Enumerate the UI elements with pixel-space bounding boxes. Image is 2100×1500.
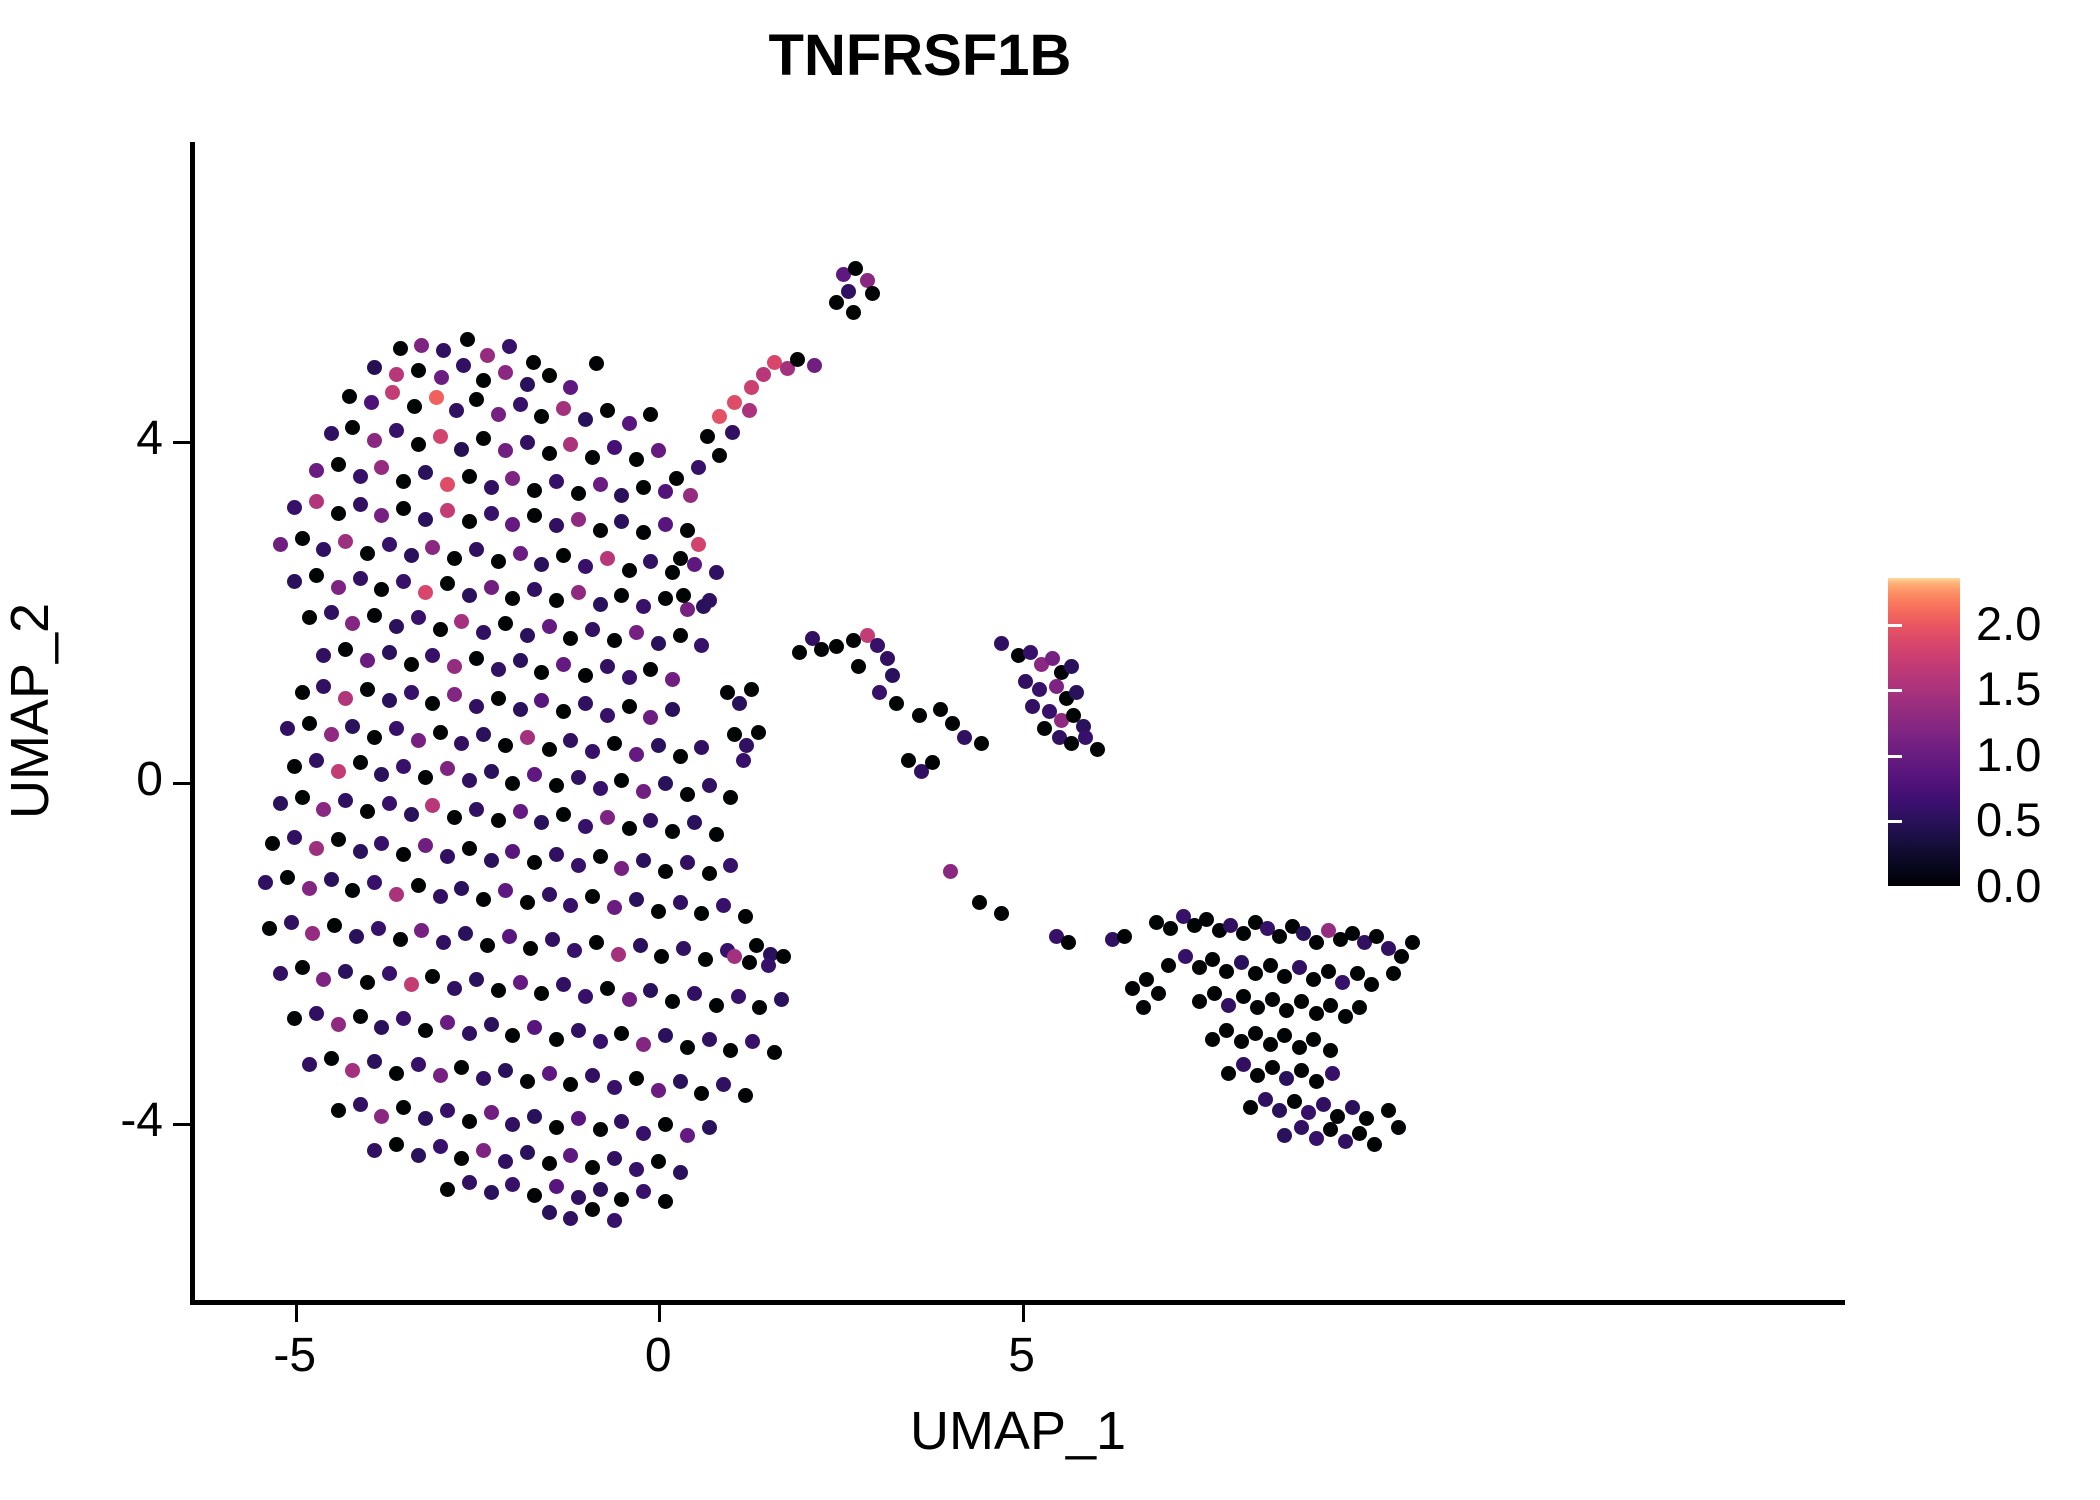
scatter-point (636, 1126, 651, 1141)
scatter-point (643, 407, 658, 422)
scatter-point (901, 753, 916, 768)
scatter-point (440, 576, 455, 591)
scatter-point (534, 557, 549, 572)
scatter-point (462, 841, 477, 856)
scatter-point (700, 429, 715, 444)
scatter-point (563, 1211, 578, 1226)
scatter-point (752, 1000, 767, 1015)
scatter-point (738, 909, 753, 924)
scatter-point (396, 1100, 411, 1115)
scatter-point (404, 807, 419, 822)
scatter-point (846, 305, 861, 320)
x-tick-label: 5 (952, 1328, 1092, 1383)
scatter-point (1234, 1034, 1249, 1049)
scatter-point (691, 537, 706, 552)
scatter-point (1323, 998, 1338, 1013)
scatter-point (643, 662, 658, 677)
scatter-point (476, 727, 491, 742)
scatter-point (614, 588, 629, 603)
scatter-point (607, 1080, 622, 1095)
scatter-point (476, 892, 491, 907)
scatter-point (607, 1151, 622, 1166)
scatter-point (527, 582, 542, 597)
scatter-point (633, 938, 648, 953)
scatter-point (665, 702, 680, 717)
scatter-point (396, 1011, 411, 1026)
scatter-point (571, 1023, 586, 1038)
scatter-point (600, 981, 615, 996)
scatter-point (374, 460, 389, 475)
scatter-point (1316, 1097, 1331, 1112)
x-tick-mark (295, 1305, 298, 1322)
scatter-point (556, 548, 571, 563)
scatter-point (460, 332, 475, 347)
x-tick-label: -5 (225, 1328, 365, 1383)
scatter-point (1205, 1032, 1220, 1047)
scatter-point (1064, 736, 1079, 751)
scatter-point (563, 733, 578, 748)
scatter-point (418, 838, 433, 853)
scatter-point (527, 483, 542, 498)
scatter-point (469, 699, 484, 714)
scatter-point (872, 685, 887, 700)
scatter-point (331, 457, 346, 472)
scatter-point (513, 975, 528, 990)
scatter-point (382, 966, 397, 981)
scatter-point (643, 554, 658, 569)
scatter-point (792, 645, 807, 660)
scatter-point (556, 704, 571, 719)
scatter-point (1294, 1120, 1309, 1135)
scatter-point (1287, 1094, 1302, 1109)
scatter-point (731, 989, 746, 1004)
scatter-point (1350, 966, 1365, 981)
scatter-point (669, 471, 684, 486)
scatter-point (1248, 1026, 1263, 1041)
scatter-point (1258, 1092, 1273, 1107)
scatter-point (745, 1034, 760, 1049)
scatter-point (578, 668, 593, 683)
scatter-point (542, 742, 557, 757)
scatter-point (309, 463, 324, 478)
scatter-point (673, 1165, 688, 1180)
scatter-point (404, 548, 419, 563)
scatter-point (374, 508, 389, 523)
scatter-point (600, 551, 615, 566)
scatter-point (367, 1143, 382, 1158)
scatter-point (338, 642, 353, 657)
y-axis-title: UMAP_2 (0, 361, 61, 1061)
scatter-point (651, 443, 666, 458)
scatter-point (593, 1034, 608, 1049)
scatter-point (732, 696, 747, 711)
scatter-point (676, 941, 691, 956)
scatter-point (571, 486, 586, 501)
scatter-point (607, 1213, 622, 1228)
scatter-point (687, 986, 702, 1001)
scatter-point (527, 1020, 542, 1035)
scatter-point (411, 733, 426, 748)
scatter-point (527, 855, 542, 870)
scatter-point (723, 1043, 738, 1058)
scatter-point (658, 864, 673, 879)
scatter-point (534, 665, 549, 680)
scatter-point (440, 1015, 455, 1030)
scatter-point (520, 730, 535, 745)
scatter-point (593, 781, 608, 796)
scatter-point (353, 469, 368, 484)
scatter-point (549, 847, 564, 862)
scatter-point (484, 480, 499, 495)
scatter-point (1279, 1003, 1294, 1018)
scatter-point (484, 1017, 499, 1032)
scatter-point (723, 790, 738, 805)
scatter-point (411, 1057, 426, 1072)
scatter-point (302, 610, 317, 625)
scatter-point (374, 767, 389, 782)
scatter-point (680, 1040, 695, 1055)
scatter-point (302, 716, 317, 731)
scatter-point (865, 286, 880, 301)
y-tick-label: 4 (43, 411, 163, 466)
scatter-point (614, 488, 629, 503)
scatter-point (324, 1051, 339, 1066)
scatter-point (484, 1105, 499, 1120)
scatter-point (295, 960, 310, 975)
colorbar-tick-mark (2084, 624, 2098, 627)
scatter-point (309, 494, 324, 509)
scatter-point (440, 503, 455, 518)
scatter-point (1221, 998, 1236, 1013)
scatter-point (709, 998, 724, 1013)
scatter-point (374, 582, 389, 597)
scatter-point (447, 659, 462, 674)
scatter-point (440, 477, 455, 492)
scatter-point (585, 889, 600, 904)
scatter-point (491, 983, 506, 998)
scatter-point (636, 784, 651, 799)
scatter-point (1381, 1103, 1396, 1118)
scatter-point (1321, 964, 1336, 979)
scatter-point (476, 625, 491, 640)
scatter-point (484, 506, 499, 521)
scatter-point (578, 696, 593, 711)
scatter-point (520, 435, 535, 450)
scatter-point (585, 1068, 600, 1083)
scatter-point (636, 599, 651, 614)
scatter-point (462, 773, 477, 788)
scatter-point (738, 1088, 753, 1103)
scatter-point (527, 508, 542, 523)
scatter-point (353, 755, 368, 770)
scatter-point (462, 1175, 477, 1190)
scatter-point (396, 759, 411, 774)
scatter-point (1294, 994, 1309, 1009)
scatter-point (1309, 1006, 1324, 1021)
scatter-point (327, 918, 342, 933)
scatter-point (1306, 1032, 1321, 1047)
scatter-point (1309, 1131, 1324, 1146)
scatter-point (593, 523, 608, 538)
scatter-point (1236, 989, 1251, 1004)
scatter-point (549, 1032, 564, 1047)
scatter-point (1032, 682, 1047, 697)
scatter-point (694, 740, 709, 755)
scatter-point (593, 849, 608, 864)
scatter-point (447, 551, 462, 566)
scatter-point (498, 616, 513, 631)
scatter-point (1025, 699, 1040, 714)
scatter-point (683, 488, 698, 503)
scatter-point (593, 1122, 608, 1137)
scatter-point (1394, 949, 1409, 964)
scatter-point (658, 1194, 673, 1209)
scatter-point (316, 802, 331, 817)
scatter-point (1263, 958, 1278, 973)
scatter-point (462, 469, 477, 484)
scatter-point (287, 500, 302, 515)
scatter-point (1277, 1128, 1292, 1143)
scatter-point (651, 1154, 666, 1169)
scatter-point (349, 929, 364, 944)
scatter-point (265, 836, 280, 851)
scatter-point (491, 813, 506, 828)
scatter-point (709, 827, 724, 842)
scatter-point (1272, 1103, 1287, 1118)
scatter-point (436, 343, 451, 358)
colorbar-tick-label: 2.0 (1976, 600, 2041, 647)
scatter-point (1207, 986, 1222, 1001)
scatter-point (943, 864, 958, 879)
scatter-point (556, 977, 571, 992)
scatter-point (491, 662, 506, 677)
scatter-point (1294, 1063, 1309, 1078)
scatter-point (933, 702, 948, 717)
colorbar-tick-mark (2084, 886, 2098, 889)
scatter-point (593, 597, 608, 612)
scatter-point (571, 1190, 586, 1205)
scatter-point (262, 921, 277, 936)
scatter-point (1391, 1120, 1406, 1135)
scatter-point (484, 1185, 499, 1200)
scatter-point (484, 853, 499, 868)
scatter-point (925, 755, 940, 770)
scatter-point (505, 1117, 520, 1132)
scatter-point (665, 824, 680, 839)
scatter-point (790, 352, 805, 367)
scatter-point (673, 1074, 688, 1089)
scatter-point (469, 392, 484, 407)
x-tick-mark (658, 1305, 661, 1322)
scatter-point (287, 830, 302, 845)
scatter-point (636, 525, 651, 540)
scatter-point (505, 471, 520, 486)
scatter-point (316, 679, 331, 694)
scatter-point (534, 409, 549, 424)
scatter-point (945, 716, 960, 731)
scatter-point (756, 367, 771, 382)
scatter-point (1309, 935, 1324, 950)
scatter-point (1277, 969, 1292, 984)
scatter-point (885, 668, 900, 683)
scatter-point (607, 736, 622, 751)
scatter-point (680, 523, 695, 538)
scatter-point (571, 770, 586, 785)
scatter-point (687, 815, 702, 830)
scatter-point (651, 1083, 666, 1098)
scatter-point (848, 261, 863, 276)
scatter-point (338, 964, 353, 979)
scatter-point (480, 938, 495, 953)
scatter-point (1018, 674, 1033, 689)
scatter-point (418, 512, 433, 527)
y-tick-label: -4 (43, 1093, 163, 1148)
scatter-point (520, 628, 535, 643)
scatter-point (353, 571, 368, 586)
x-axis-title: UMAP_1 (193, 1400, 1843, 1462)
scatter-point (411, 610, 426, 625)
scatter-point (498, 883, 513, 898)
scatter-point (636, 853, 651, 868)
scatter-point (534, 815, 549, 830)
scatter-point (549, 1179, 564, 1194)
scatter-point (1139, 972, 1154, 987)
scatter-point (1338, 1009, 1353, 1024)
scatter-point (651, 738, 666, 753)
scatter-point (665, 672, 680, 687)
scatter-point (389, 619, 404, 634)
scatter-point (673, 551, 688, 566)
scatter-point (367, 1054, 382, 1069)
colorbar-tick-mark (1888, 689, 1902, 692)
scatter-point (1405, 935, 1420, 950)
scatter-point (469, 651, 484, 666)
scatter-point (1219, 964, 1234, 979)
scatter-point (364, 395, 379, 410)
scatter-point (880, 651, 895, 666)
scatter-point (585, 744, 600, 759)
scatter-point (324, 426, 339, 441)
scatter-point (309, 1006, 324, 1021)
scatter-point (353, 1097, 368, 1112)
scatter-point (1277, 1028, 1292, 1043)
scatter-point (1161, 958, 1176, 973)
scatter-point (371, 921, 386, 936)
scatter-point (367, 730, 382, 745)
scatter-point (389, 1066, 404, 1081)
umap-feature-plot: TNFRSF1B -50540-4 UMAP_1 UMAP_2 2.01.51.… (0, 0, 2100, 1500)
scatter-point (454, 1060, 469, 1075)
scatter-point (1272, 929, 1287, 944)
scatter-point (1323, 1122, 1338, 1137)
scatter-point (404, 685, 419, 700)
scatter-point (571, 585, 586, 600)
scatter-point (462, 1026, 477, 1041)
scatter-point (563, 437, 578, 452)
x-tick-label: 0 (588, 1328, 728, 1383)
scatter-point (742, 955, 757, 970)
scatter-point (814, 642, 829, 657)
scatter-point (433, 889, 448, 904)
scatter-point (571, 858, 586, 873)
scatter-point (476, 1143, 491, 1158)
scatter-point (1078, 730, 1093, 745)
scatter-point (367, 608, 382, 623)
scatter-point (629, 452, 644, 467)
scatter-point (345, 420, 360, 435)
scatter-point (698, 952, 713, 967)
scatter-point (851, 659, 866, 674)
scatter-point (309, 841, 324, 856)
scatter-point (1199, 912, 1214, 927)
scatter-point (447, 687, 462, 702)
scatter-point (829, 295, 844, 310)
scatter-point (449, 403, 464, 418)
scatter-point (585, 1160, 600, 1175)
scatter-point (1205, 952, 1220, 967)
scatter-point (393, 932, 408, 947)
scatter-point (447, 981, 462, 996)
scatter-point (526, 355, 541, 370)
scatter-point (520, 377, 535, 392)
scatter-point (549, 1120, 564, 1135)
scatter-point (585, 450, 600, 465)
scatter-point (1369, 929, 1384, 944)
scatter-point (462, 514, 477, 529)
scatter-point (345, 616, 360, 631)
scatter-point (643, 983, 658, 998)
scatter-point (622, 670, 637, 685)
scatter-point (425, 696, 440, 711)
scatter-point (418, 585, 433, 600)
scatter-point (505, 1028, 520, 1043)
scatter-point (658, 776, 673, 791)
scatter-point (556, 401, 571, 416)
scatter-point (1136, 1000, 1151, 1015)
scatter-point (418, 1023, 433, 1038)
scatter-point (433, 622, 448, 637)
scatter-point (727, 949, 742, 964)
scatter-point (1263, 1037, 1278, 1052)
scatter-point (345, 719, 360, 734)
scatter-point (673, 895, 688, 910)
scatter-point (622, 992, 637, 1007)
scatter-point (542, 368, 557, 383)
scatter-point (385, 385, 400, 400)
scatter-point (374, 1109, 389, 1124)
scatter-point (338, 793, 353, 808)
scatter-point (367, 360, 382, 375)
scatter-point (600, 708, 615, 723)
scatter-point (433, 1068, 448, 1083)
scatter-point (454, 614, 469, 629)
scatter-point (739, 738, 754, 753)
plot-panel (193, 142, 1843, 1302)
scatter-point (436, 935, 451, 950)
scatter-point (1234, 955, 1249, 970)
scatter-point (691, 460, 706, 475)
colorbar-tick-label: 1.5 (1976, 665, 2041, 712)
scatter-point (716, 1077, 731, 1092)
colorbar-tick-label: 1.0 (1976, 731, 2041, 778)
scatter-point (316, 972, 331, 987)
scatter-point (1236, 1057, 1251, 1072)
scatter-point (658, 591, 673, 606)
scatter-point (629, 1071, 644, 1086)
scatter-point (846, 633, 861, 648)
scatter-point (1064, 659, 1079, 674)
scatter-point (287, 759, 302, 774)
